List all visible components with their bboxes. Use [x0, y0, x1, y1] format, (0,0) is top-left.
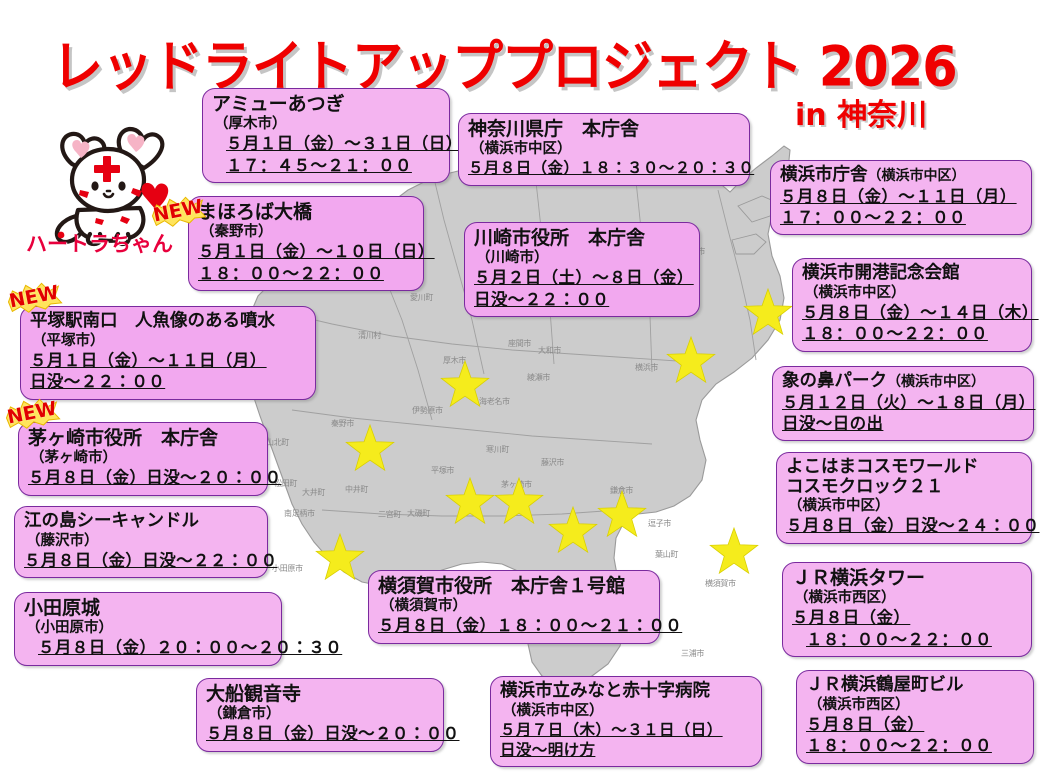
- venue-date-1: ５月１２日（火）～１８日（月）: [782, 392, 1024, 413]
- mascot-name-label: ハートラちゃん: [26, 228, 173, 258]
- venue-city: （横浜市中区）: [468, 140, 740, 158]
- map-city-label: 大和市: [538, 345, 561, 356]
- venue-city: （川崎市）: [474, 249, 690, 267]
- map-city-label: 横須賀市: [705, 578, 736, 589]
- venue-city: （横須賀市）: [378, 597, 650, 615]
- venue-city: （藤沢市）: [24, 532, 258, 550]
- venue-card-zou-no-hana-park[interactable]: 象の鼻パーク（横浜市中区） ５月１２日（火）～１８日（月） 日没～日の出: [772, 366, 1034, 441]
- venue-card-jr-yokohama-tower[interactable]: ＪＲ横浜タワー （横浜市西区） ５月８日（金） １８：００～２２：００: [782, 562, 1032, 657]
- venue-date-1: ５月８日（金）: [806, 714, 1024, 735]
- venue-name: 象の鼻パーク（横浜市中区）: [782, 372, 1024, 392]
- venue-city: （平塚市）: [30, 332, 306, 350]
- venue-date-1: ５月８日（金）日没～２０：００: [28, 467, 258, 488]
- venue-card-enoshima-sea-candle[interactable]: 江の島シーキャンドル （藤沢市） ５月８日（金）日没～２２：００: [14, 506, 268, 578]
- poster-canvas: 愛川町清川村座間市大和市厚木市綾瀬市海老名市横浜市伊勢原市秦野市山北町寒川町藤沢…: [0, 0, 1044, 784]
- map-city-label: 寒川町: [486, 444, 509, 455]
- venue-date-1: ５月８日（金）～１１日（月）: [780, 186, 1022, 207]
- venue-city: （横浜市中区）: [802, 284, 1022, 302]
- map-city-label: 横浜市: [635, 362, 658, 373]
- star-chigasaki-star-icon: [492, 477, 546, 529]
- venue-name: アミューあつぎ: [212, 94, 440, 115]
- map-city-label: 清川村: [358, 330, 381, 341]
- venue-name: ＪＲ横浜タワー: [792, 568, 1022, 589]
- mascot-eye-right: [118, 181, 125, 190]
- venue-city: （横浜市中区）: [786, 497, 1022, 515]
- venue-date-2: 日没～２２：００: [474, 289, 690, 310]
- venue-card-amu-atsugi[interactable]: アミューあつぎ （厚木市） ５月１日（金）～３１日（日） １７：４５～２１：００: [202, 88, 450, 183]
- venue-name: 大船観音寺: [206, 684, 434, 705]
- venue-date-2: 日没～２２：００: [30, 371, 306, 392]
- map-city-label: 南足柄市: [284, 508, 315, 519]
- venue-card-yokohama-port-opening-memorial-hall[interactable]: 横浜市開港記念会館 （横浜市中区） ５月８日（金）～１４日（木） １８：００～２…: [792, 258, 1032, 352]
- map-city-label: 大磯町: [407, 508, 430, 519]
- venue-card-hiratsuka-station-south-fountain[interactable]: 平塚駅南口 人魚像のある噴水 （平塚市） ５月１日（金）～１１日（月） 日没～２…: [20, 306, 316, 400]
- venue-date-2: １８：００～２２：００: [802, 323, 1022, 344]
- venue-date-1: ５月８日（金）～１４日（木）: [802, 302, 1022, 323]
- venue-date-1: ５月１日（金）～１０日（日）: [198, 241, 414, 262]
- venue-city: （厚木市）: [212, 115, 440, 133]
- venue-date-1: ５月１日（金）～３１日（日）: [212, 133, 440, 154]
- star-atsugi-star-icon: [438, 360, 492, 412]
- venue-card-chigasaki-city-hall[interactable]: 茅ヶ崎市役所 本庁舎 （茅ヶ崎市） ５月８日（金）日没～２０：００: [18, 422, 268, 496]
- mascot-cross-horizontal: [94, 165, 120, 173]
- venue-card-odawara-castle[interactable]: 小田原城 （小田原市） ５月８日（金）２０：００～２０：３０: [14, 592, 282, 666]
- venue-date-1: ５月８日（金）日没～２２：００: [24, 550, 258, 571]
- venue-name: 横浜市開港記念会館: [802, 264, 1022, 284]
- venue-date-2: 日没～日の出: [782, 413, 1024, 434]
- venue-date-2: １７：４５～２１：００: [212, 155, 440, 176]
- venue-name-line2: コスモクロック２１: [786, 478, 1022, 498]
- venue-date-1: ５月８日（金）１８：３０～２０：３０: [468, 158, 740, 178]
- venue-date-1: ５月８日（金）: [792, 607, 1022, 628]
- venue-card-yokohama-minato-red-cross-hospital[interactable]: 横浜市立みなと赤十字病院 （横浜市中区） ５月７日（木）～３１日（日） 日没～明…: [490, 676, 762, 767]
- star-odawara-star-icon: [313, 533, 367, 585]
- venue-city: （横浜市中区）: [868, 168, 966, 184]
- venue-name: 横浜市立みなと赤十字病院: [500, 682, 752, 702]
- star-hiratsuka-star-icon: [443, 477, 497, 529]
- map-city-label: 愛川町: [410, 292, 433, 303]
- map-city-label: 中井町: [345, 484, 368, 495]
- map-city-label: 藤沢市: [541, 457, 564, 468]
- page-subtitle: in 神奈川: [795, 90, 927, 134]
- venue-name: まほろば大橋: [198, 202, 414, 223]
- map-city-label: 二宮町: [378, 509, 401, 520]
- venue-date-2: 日没～明け方: [500, 740, 752, 760]
- star-yokohama-star-icon: [664, 336, 718, 388]
- venue-city: （横浜市中区）: [500, 702, 752, 720]
- venue-date-1: ５月７日（木）～３１日（日）: [500, 720, 752, 740]
- venue-date-1: ５月１日（金）～１１日（月）: [30, 350, 306, 371]
- venue-name: 江の島シーキャンドル: [24, 512, 258, 532]
- venue-card-yokohama-cosmoworld[interactable]: よこはまコスモワールド コスモクロック２１ （横浜市中区） ５月８日（金）日没～…: [776, 452, 1032, 544]
- venue-name: 茅ヶ崎市役所 本庁舎: [28, 428, 258, 449]
- map-city-label: 綾瀬市: [527, 372, 550, 383]
- map-city-label: 山北町: [266, 437, 289, 448]
- venue-city: （横浜市西区）: [806, 696, 1024, 714]
- venue-date-1: ５月８日（金）１８：００～２１：００: [378, 615, 650, 636]
- venue-date-1: ５月８日（金）日没～２０：００: [206, 723, 434, 744]
- venue-name: 小田原城: [24, 598, 272, 619]
- venue-name: 川崎市役所 本庁舎: [474, 228, 690, 249]
- venue-city: （鎌倉市）: [206, 705, 434, 723]
- star-kawasaki-star-icon: [741, 288, 795, 340]
- mascot-eye-left: [91, 181, 98, 190]
- star-hadano-star-icon: [343, 424, 397, 476]
- map-city-label: 逗子市: [648, 518, 671, 529]
- venue-card-kawasaki-city-hall[interactable]: 川崎市役所 本庁舎 （川崎市） ５月２日（土）～８日（金） 日没～２２：００: [464, 222, 700, 317]
- venue-card-yokosuka-city-hall[interactable]: 横須賀市役所 本庁舎１号館 （横須賀市） ５月８日（金）１８：００～２１：００: [368, 570, 660, 644]
- venue-city: （茅ヶ崎市）: [28, 449, 258, 467]
- venue-card-mahoroba-ohashi[interactable]: まほろば大橋 （秦野市） ５月１日（金）～１０日（日） １８：００～２２：００: [188, 196, 424, 291]
- venue-date-1: ５月８日（金）日没～２４：００: [786, 515, 1022, 536]
- venue-name: 平塚駅南口 人魚像のある噴水: [30, 312, 306, 332]
- map-city-label: 座間市: [508, 338, 531, 349]
- venue-name: 神奈川県庁 本庁舎: [468, 119, 740, 140]
- venue-city: （秦野市）: [198, 223, 414, 241]
- venue-date-1: ５月２日（土）～８日（金）: [474, 267, 690, 288]
- venue-date-2: １８：００～２２：００: [806, 735, 1024, 756]
- venue-name: ＪＲ横浜鶴屋町ビル: [806, 676, 1024, 696]
- venue-card-ofuna-kannonji[interactable]: 大船観音寺 （鎌倉市） ５月８日（金）日没～２０：００: [196, 678, 444, 752]
- venue-name: 横須賀市役所 本庁舎１号館: [378, 576, 650, 597]
- venue-city: （横浜市西区）: [792, 589, 1022, 607]
- map-city-label: 三浦市: [681, 648, 704, 659]
- venue-city: （小田原市）: [24, 619, 272, 637]
- venue-city: （横浜市中区）: [887, 374, 985, 390]
- venue-date-1: ５月８日（金）２０：００～２０：３０: [24, 637, 272, 658]
- map-city-label: 平塚市: [431, 465, 454, 476]
- venue-card-jr-yokohama-tsurugaoka-building[interactable]: ＪＲ横浜鶴屋町ビル （横浜市西区） ５月８日（金） １８：００～２２：００: [796, 670, 1034, 764]
- venue-name: 横浜市庁舎（横浜市中区）: [780, 166, 1022, 186]
- venue-date-2: １７：００～２２：００: [780, 207, 1022, 228]
- star-kamakura-star-icon: [595, 490, 649, 542]
- venue-card-yokohama-city-hall[interactable]: 横浜市庁舎（横浜市中区） ５月８日（金）～１１日（月） １７：００～２２：００: [770, 160, 1032, 235]
- venue-card-kanagawa-prefectural-office[interactable]: 神奈川県庁 本庁舎 （横浜市中区） ５月８日（金）１８：３０～２０：３０: [458, 113, 750, 186]
- star-yokosuka-star-icon: [707, 527, 761, 579]
- venue-date-2: １８：００～２２：００: [198, 263, 414, 284]
- map-city-label: 葉山町: [655, 549, 678, 560]
- map-city-label: 大井町: [302, 487, 325, 498]
- venue-name: よこはまコスモワールド: [786, 458, 1022, 478]
- venue-date-2: １８：００～２２：００: [792, 629, 1022, 650]
- star-fujisawa-star-icon: [546, 506, 600, 558]
